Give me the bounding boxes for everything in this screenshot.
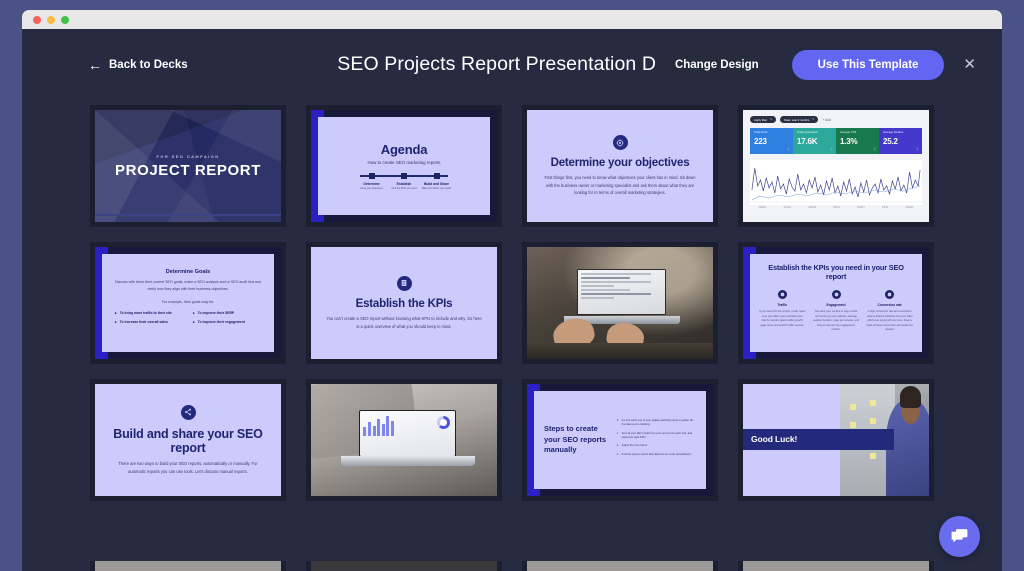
dashboard-line-chart <box>750 160 922 205</box>
slide-thumbnail-8[interactable]: Establish the KPIs you need in your SEO … <box>738 242 934 364</box>
slide-1-title: PROJECT REPORT <box>115 162 261 179</box>
slide-canvas-3: Determine your objectives First things f… <box>527 110 713 222</box>
slide-thumbnail-2[interactable]: Agenda How to create SEO marketing repor… <box>306 105 502 227</box>
slide-row-peek <box>40 561 984 571</box>
screen-line <box>581 293 651 295</box>
slide-canvas-7 <box>527 247 713 359</box>
slide-1-kicker: FOR SEO CAMPAIGN <box>157 154 220 159</box>
timeline-step: Establish Find the KPIs you need <box>389 173 420 191</box>
slide-thumbnail-4[interactable]: Apply filter ✎ Date: Last 3 months ✎ + A… <box>738 105 934 227</box>
slide-canvas-2: Agenda How to create SEO marketing repor… <box>311 110 497 222</box>
timeline-step: Build and Share Make and share your repo… <box>421 173 452 191</box>
app-header: ← Back to Decks SEO Projects Report Pres… <box>40 29 984 100</box>
slide-8-columns: Traffic If you intend for the project, e… <box>759 290 913 333</box>
slide-2-subtitle: How to create SEO marketing reports <box>368 160 441 165</box>
screen-line <box>581 285 614 287</box>
slide-thumbnail-6[interactable]: Establish the KPIs You can't create a SE… <box>306 242 502 364</box>
pencil-icon: ✎ <box>770 118 772 121</box>
slide-thumbnail-12[interactable]: Good Luck! <box>738 379 934 501</box>
close-icon[interactable]: ✕ <box>959 55 980 74</box>
kpi-card: Total Clicks 223 ⓘ <box>750 128 793 154</box>
dashboard-add-label: + Add <box>822 118 830 122</box>
slide-12-banner: Good Luck! <box>743 429 894 450</box>
bullet-item: To improve their engagement <box>193 320 261 324</box>
app-body: ← Back to Decks SEO Projects Report Pres… <box>22 29 1002 571</box>
slide-8-pane: Establish the KPIs you need in your SEO … <box>750 254 922 352</box>
x-tick: 4/25/21 <box>808 206 816 209</box>
bullet-item: Go into each one of your digital marketi… <box>616 419 696 428</box>
kpi-column: Traffic If you intend for the project, e… <box>759 290 806 333</box>
laptop-screen <box>359 410 456 457</box>
slide-5-title: Determine Goals <box>166 269 210 275</box>
dashboard-filter-pill-1: Apply filter ✎ <box>750 116 776 123</box>
slide-6-content: Establish the KPIs You can't create a SE… <box>311 247 497 359</box>
x-tick: 6/20/21 <box>905 206 913 209</box>
kpi-column: Conversion rate A high conversion rate a… <box>866 290 913 333</box>
slide-thumbnail-7[interactable] <box>522 242 718 364</box>
timeline-step: Determine Know your objectives <box>356 173 387 191</box>
bullet-item: To improve their SERP <box>193 311 261 315</box>
pencil-icon: ✎ <box>812 118 814 121</box>
bullet-text: Go into each one of your digital marketi… <box>622 419 696 428</box>
slide-6-body: You can't create a SEO report without kn… <box>325 315 483 330</box>
back-to-decks-label: Back to Decks <box>109 59 188 71</box>
slide-9-title: Build and share your SEO report <box>109 427 267 455</box>
slide-canvas-10 <box>311 384 497 496</box>
browser-window: ← Back to Decks SEO Projects Report Pres… <box>22 10 1002 571</box>
slide-canvas-1: FOR SEO CAMPAIGN PROJECT REPORT <box>95 110 281 222</box>
slide-1-rule <box>95 214 281 216</box>
kpi-label: Total Clicks <box>754 131 789 134</box>
slide-3-body: First things first, you need to know wha… <box>541 174 699 197</box>
slide-5-bullet-list: To bring more traffic to their site To i… <box>115 311 261 324</box>
bullet-item: Sort all your SEO metrics by your accoun… <box>616 432 696 441</box>
slide-2-title: Agenda <box>381 142 427 157</box>
slide-canvas-11: Steps to create your SEO reports manuall… <box>527 384 713 496</box>
slide-11-title: Steps to create your SEO reports manuall… <box>544 424 606 457</box>
slide-9-content: Build and share your SEO report There ar… <box>95 384 281 496</box>
timeline-node-icon <box>401 173 407 179</box>
kpi-label: Total Impressions <box>797 131 832 134</box>
chat-bubble-icon <box>949 526 970 547</box>
kpi-column-body: If you intend for the project, email, ma… <box>759 310 806 328</box>
bullet-item: Find the way to export that data into an… <box>616 453 696 457</box>
slide-canvas-9: Build and share your SEO report There ar… <box>95 384 281 496</box>
slide-3-title: Determine your objectives <box>551 157 690 169</box>
change-design-button[interactable]: Change Design <box>655 50 779 80</box>
dashboard-kpi-row: Total Clicks 223 ⓘ Total Impressions 17.… <box>750 128 922 154</box>
bullet-item: To bring more traffic to their site <box>115 311 183 315</box>
kpi-value: 25.2 <box>883 137 918 146</box>
analytics-dashboard-image: Apply filter ✎ Date: Last 3 months ✎ + A… <box>743 110 929 222</box>
desk-surface <box>527 343 713 359</box>
slide-thumbnail-5[interactable]: Determine Goals Discuss with them their … <box>90 242 286 364</box>
timeline-node-icon <box>369 173 375 179</box>
laptop-desk-photo <box>527 247 713 359</box>
slide-thumbnail-peek[interactable] <box>90 561 286 571</box>
slide-5-pane: Determine Goals Discuss with them their … <box>102 254 274 352</box>
screen-line <box>581 297 614 299</box>
filter-two-label: Date: Last 3 months <box>784 118 809 122</box>
bullet-text: Sort all your SEO metrics by your accoun… <box>622 432 696 441</box>
share-icon <box>181 405 196 420</box>
slide-canvas-4: Apply filter ✎ Date: Last 3 months ✎ + A… <box>743 110 929 222</box>
info-icon: ⓘ <box>916 147 919 151</box>
kpi-card: Average Position 25.2 ⓘ <box>879 128 922 154</box>
traffic-light-close[interactable] <box>33 16 41 24</box>
slide-grid: FOR SEO CAMPAIGN PROJECT REPORT Agenda H… <box>40 100 984 501</box>
kpi-label: Average CTR <box>840 131 875 134</box>
kpi-value: 223 <box>754 137 789 146</box>
chat-widget-button[interactable] <box>939 516 980 557</box>
slide-thumbnail-peek[interactable] <box>738 561 934 571</box>
timeline-node-icon <box>434 173 440 179</box>
screen-donut-chart <box>437 416 450 429</box>
slide-12-title: Good Luck! <box>751 434 797 444</box>
slide-thumbnail-9[interactable]: Build and share your SEO report There ar… <box>90 379 286 501</box>
kpi-column-body: A high conversion rate and conversion vo… <box>866 310 913 333</box>
dashboard-filter-pill-2: Date: Last 3 months ✎ <box>780 116 818 123</box>
back-to-decks-link[interactable]: ← Back to Decks <box>88 58 188 72</box>
slide-canvas-12: Good Luck! <box>743 384 929 496</box>
kpi-label: Average Position <box>883 131 918 134</box>
x-tick: 3/28/21 <box>758 206 766 209</box>
timeline-step-desc: Find the KPIs you need <box>389 187 420 190</box>
target-icon <box>613 135 628 150</box>
timeline-step-desc: Know your objectives <box>356 187 387 190</box>
slide-9-body: There are two ways to build your SEO rep… <box>109 460 267 475</box>
x-tick: 4/11/21 <box>783 206 791 209</box>
info-icon: ⓘ <box>830 147 833 151</box>
kpi-value: 1.3% <box>840 137 875 146</box>
kpi-column-body: You want your content to stay a while an… <box>813 310 860 333</box>
slide-3-content: Determine your objectives First things f… <box>527 110 713 222</box>
screen-line <box>581 273 651 275</box>
kpi-value: 17.6K <box>797 137 832 146</box>
timeline-step-label: Establish <box>389 182 420 186</box>
timeline-step-label: Build and Share <box>421 182 452 186</box>
slide-thumbnail-3[interactable]: Determine your objectives First things f… <box>522 105 718 227</box>
info-icon: ⓘ <box>787 147 790 151</box>
bullet-item: Adjust the time frame. <box>616 444 696 448</box>
kpi-card: Total Impressions 17.6K ⓘ <box>793 128 836 154</box>
slide-thumbnail-peek[interactable] <box>522 561 718 571</box>
kpi-card: Average CTR 1.3% ⓘ <box>836 128 879 154</box>
bullet-text: Find the way to export that data into an… <box>622 453 692 457</box>
slide-5-lead: For example, their goals may be: <box>162 300 214 304</box>
page-root: ← Back to Decks SEO Projects Report Pres… <box>0 0 1024 571</box>
slide-6-title: Establish the KPIs <box>356 298 453 310</box>
bullet-item: To increase their overall sales <box>115 320 183 324</box>
use-this-template-button[interactable]: Use This Template <box>792 50 945 80</box>
slide-canvas-8: Establish the KPIs you need in your SEO … <box>743 247 929 359</box>
slide-5-body: Discuss with them their current SEO goal… <box>115 279 261 293</box>
timeline-step-label: Determine <box>356 182 387 186</box>
slide-thumbnail-10[interactable] <box>306 379 502 501</box>
laptop-base <box>341 456 475 466</box>
person-hair <box>900 386 921 407</box>
x-tick: 5/9/21 <box>833 206 840 209</box>
kpi-column-heading: Engagement <box>826 303 845 307</box>
slide-thumbnail-peek[interactable] <box>306 561 502 571</box>
slide-thumbnail-1[interactable]: FOR SEO CAMPAIGN PROJECT REPORT <box>90 105 286 227</box>
laptop-sofa-photo <box>311 384 497 496</box>
bullet-text: Adjust the time frame. <box>622 444 648 448</box>
screen-line <box>581 277 630 279</box>
filter-one-label: Apply filter <box>754 118 767 122</box>
slide-11-pane: Steps to create your SEO reports manuall… <box>534 391 706 489</box>
slide-8-title: Establish the KPIs you need in your SEO … <box>759 263 913 281</box>
header-actions: Change Design Use This Template ✕ <box>655 50 984 80</box>
engagement-icon <box>832 290 841 299</box>
x-tick: 6/6/21 <box>882 206 889 209</box>
x-tick: 5/23/21 <box>857 206 865 209</box>
slide-1-content: FOR SEO CAMPAIGN PROJECT REPORT <box>95 110 281 222</box>
slide-canvas-5: Determine Goals Discuss with them their … <box>95 247 281 359</box>
back-arrow-icon: ← <box>88 58 102 72</box>
slide-2-timeline: Determine Know your objectives Establish… <box>356 173 452 191</box>
screen-line <box>581 289 630 291</box>
kpi-column: Engagement You want your content to stay… <box>813 290 860 333</box>
timeline-step-desc: Make and share your report <box>421 187 452 190</box>
traffic-light-zoom[interactable] <box>61 16 69 24</box>
conversion-icon <box>885 290 894 299</box>
traffic-icon <box>778 290 787 299</box>
info-icon: ⓘ <box>873 147 876 151</box>
slide-11-bullet-list: Go into each one of your digital marketi… <box>616 419 696 462</box>
kpi-column-heading: Traffic <box>778 303 788 307</box>
laptop-screen <box>577 269 666 315</box>
dashboard-x-axis: 3/28/21 4/11/21 4/25/21 5/9/21 5/23/21 6… <box>750 206 922 209</box>
traffic-light-minimize[interactable] <box>47 16 55 24</box>
screen-line <box>581 281 651 283</box>
slide-canvas-6: Establish the KPIs You can't create a SE… <box>311 247 497 359</box>
dashboard-toolbar: Apply filter ✎ Date: Last 3 months ✎ + A… <box>750 116 922 123</box>
kpi-column-heading: Conversion rate <box>878 303 902 307</box>
browser-titlebar <box>22 10 1002 29</box>
slide-thumbnail-11[interactable]: Steps to create your SEO reports manuall… <box>522 379 718 501</box>
slide-2-pane: Agenda How to create SEO marketing repor… <box>318 117 490 215</box>
document-icon <box>397 276 412 291</box>
